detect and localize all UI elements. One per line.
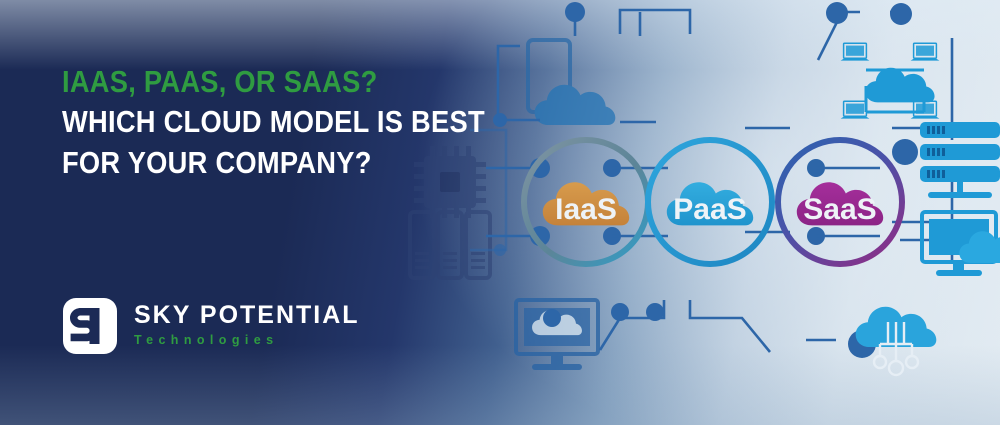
cloud-model-iaas: IaaS xyxy=(524,140,648,264)
headline-block: IAAS, PAAS, OR SAAS? WHICH CLOUD MODEL I… xyxy=(62,62,482,183)
cloud-circuit-icon xyxy=(856,307,937,375)
logo-tagline: Technologies xyxy=(134,330,360,350)
headline-line-1: IAAS, PAAS, OR SAAS? xyxy=(62,62,432,102)
headline-line-2: WHICH CLOUD MODEL IS BEST xyxy=(62,102,432,142)
iaas-label: IaaS xyxy=(555,193,617,226)
server-rack-icon xyxy=(920,122,1000,198)
phone-cloud-icon xyxy=(528,40,615,125)
sp-monogram-icon xyxy=(62,297,118,355)
cloud-network-laptops-icon xyxy=(841,43,940,118)
monitor-cloud-icon-right xyxy=(922,212,1000,276)
logo-name: SKY POTENTIAL xyxy=(134,302,360,328)
logo-text: SKY POTENTIAL Technologies xyxy=(134,302,360,350)
paas-label: PaaS xyxy=(673,193,746,226)
saas-label: SaaS xyxy=(803,193,876,226)
cloud-model-paas: PaaS xyxy=(648,140,772,264)
monitor-cloud-icon-left xyxy=(516,300,598,370)
page-title: IAAS, PAAS, OR SAAS? WHICH CLOUD MODEL I… xyxy=(62,62,432,183)
cloud-model-saas: SaaS xyxy=(778,140,902,264)
cloud-models-banner: IaaS PaaS SaaS xyxy=(0,0,1000,425)
brand-logo[interactable]: SKY POTENTIAL Technologies xyxy=(62,297,360,355)
headline-line-3: FOR YOUR COMPANY? xyxy=(62,143,432,183)
